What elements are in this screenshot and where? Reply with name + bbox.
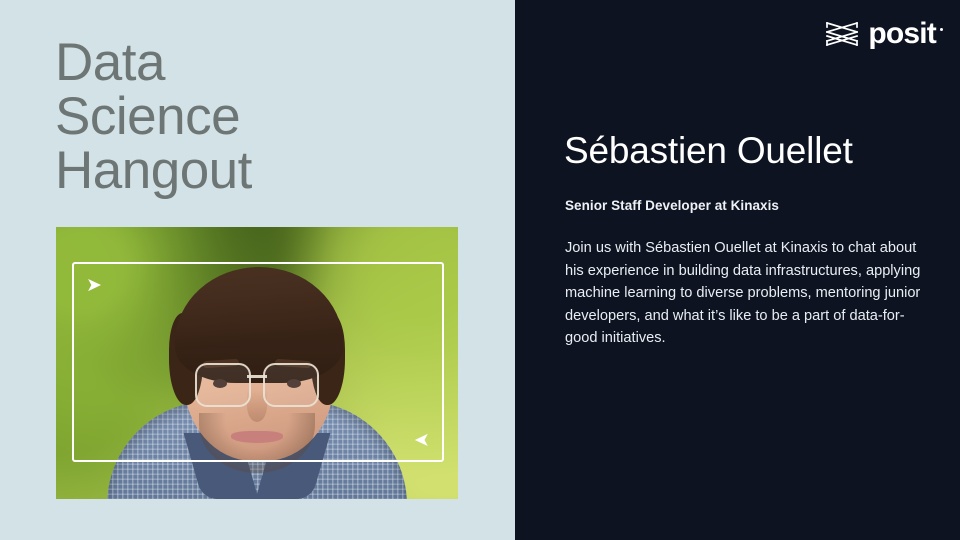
right-panel: posit Sébastien Ouellet Senior Staff Dev… bbox=[515, 0, 960, 540]
photo-glasses bbox=[195, 363, 319, 405]
left-panel: Data Science Hangout bbox=[0, 0, 515, 540]
posit-lattice-icon bbox=[825, 21, 859, 47]
presentation-slide: Data Science Hangout bbox=[0, 0, 960, 540]
photo-glasses-lens-left bbox=[195, 363, 251, 407]
posit-logo: posit bbox=[825, 19, 936, 49]
trademark-dot-icon bbox=[940, 28, 943, 31]
posit-wordmark: posit bbox=[868, 19, 936, 49]
photo-mouth bbox=[231, 431, 283, 443]
speaker-role: Senior Staff Developer at Kinaxis bbox=[565, 198, 779, 213]
speaker-description: Join us with Sébastien Ouellet at Kinaxi… bbox=[565, 237, 937, 350]
page-title: Data Science Hangout bbox=[55, 36, 475, 198]
posit-wordmark-text: posit bbox=[868, 17, 936, 50]
photo-glasses-lens-right bbox=[263, 363, 319, 407]
speaker-name: Sébastien Ouellet bbox=[564, 131, 853, 172]
photo-person bbox=[56, 227, 458, 499]
speaker-photo: ➤ ➤ bbox=[56, 227, 458, 499]
